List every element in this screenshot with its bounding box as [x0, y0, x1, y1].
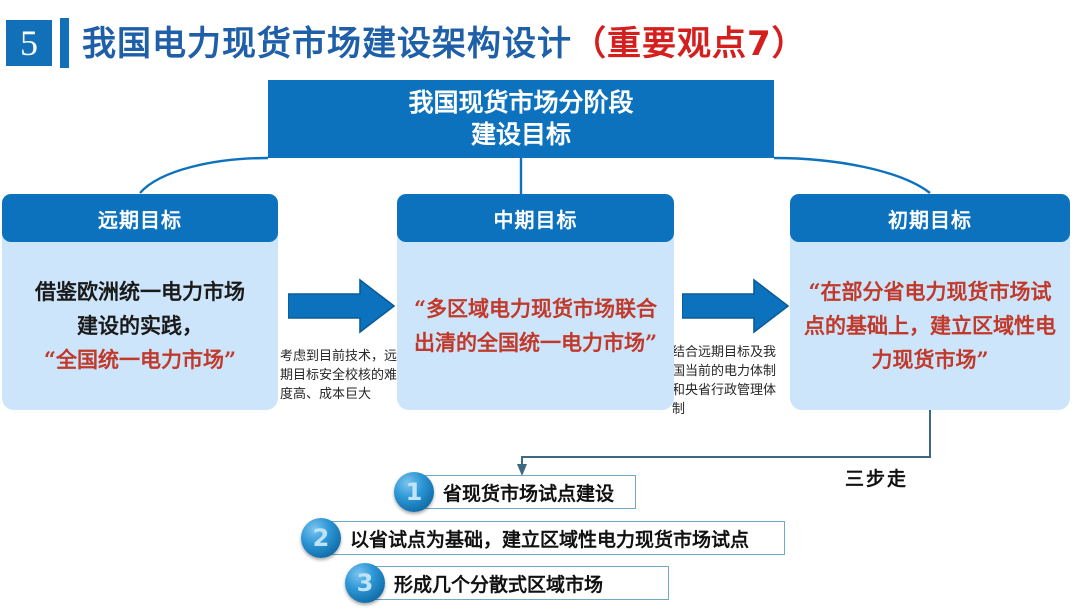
annotation-note-1: 考虑到目前技术，远期目标安全校核的难度高、成本巨大 [280, 348, 398, 405]
top-header-box: 我国现货市场分阶段 建设目标 [268, 80, 774, 158]
goal-card-initial-term[interactable]: “在部分省电力现货市场试点的基础上，建立区域性电力现货市场” 初期目标 [790, 194, 1070, 410]
step-number-badge: 2 [301, 518, 341, 558]
goal-card-body: “在部分省电力现货市场试点的基础上，建立区域性电力现货市场” [790, 220, 1070, 410]
goal-card-long-term[interactable]: 借鉴欧洲统一电力市场 建设的实践， “全国统一电力市场” 远期目标 [2, 194, 278, 410]
goal-card-header: 中期目标 [397, 194, 674, 242]
top-header-line2: 建设目标 [408, 119, 633, 151]
goal-card-text-highlight: “全国统一电力市场” [35, 343, 245, 377]
page-title-main: 我国电力现货市场建设架构设计 [82, 24, 572, 64]
step-label: 形成几个分散式区域市场 [369, 566, 669, 600]
goal-card-body: “多区域电力现货市场联合出清的全国统一电力市场” [397, 220, 674, 410]
step-number-badge: 3 [345, 563, 385, 603]
goal-card-text-line2: 建设的实践， [77, 313, 203, 338]
goal-card-header: 远期目标 [2, 194, 278, 242]
goal-card-mid-term[interactable]: “多区域电力现货市场联合出清的全国统一电力市场” 中期目标 [397, 194, 674, 410]
three-step-label: 三步走 [845, 464, 908, 491]
slide-title-row: 5 我国电力现货市场建设架构设计（重要观点7） [0, 14, 1080, 72]
top-header-line1: 我国现货市场分阶段 [408, 87, 633, 119]
goal-card-body: 借鉴欧洲统一电力市场 建设的实践， “全国统一电力市场” [2, 220, 278, 410]
title-divider-bar [60, 18, 69, 68]
annotation-note-2: 结合远期目标及我国当前的电力体制和央省行政管理体制 [672, 344, 784, 419]
step-label: 以省试点为基础，建立区域性电力现货市场试点 [325, 521, 785, 555]
goal-card-text-line1: 借鉴欧洲统一电力市场 [35, 279, 245, 304]
page-title-accent: （重要观点7） [572, 24, 807, 64]
step-number-badge: 1 [394, 472, 434, 512]
arrow-right-icon [682, 278, 790, 334]
goal-card-text: 借鉴欧洲统一电力市场 建设的实践， “全国统一电力市场” [35, 275, 245, 377]
page-title: 我国电力现货市场建设架构设计（重要观点7） [82, 16, 807, 65]
goal-card-header: 初期目标 [790, 194, 1070, 242]
goal-card-text: “多区域电力现货市场联合出清的全国统一电力市场” [411, 292, 660, 360]
slide-canvas: 5 我国电力现货市场建设架构设计（重要观点7） 我国现货市场分阶段 建设目标 借… [0, 0, 1080, 608]
step-label: 省现货市场试点建设 [418, 475, 636, 509]
section-number-badge: 5 [6, 20, 52, 66]
goal-card-text: “在部分省电力现货市场试点的基础上，建立区域性电力现货市场” [804, 275, 1056, 377]
arrow-right-icon [288, 278, 396, 334]
